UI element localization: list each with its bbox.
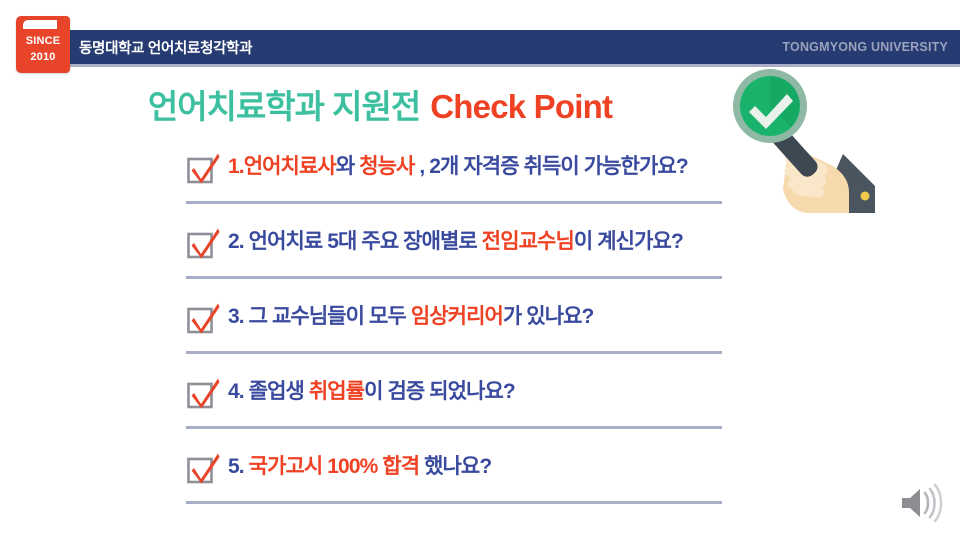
checklist-item-segment: 언어치료사 xyxy=(244,155,336,178)
checklist-item-segment: 취업률 xyxy=(309,380,364,403)
checklist-item-segment: 임상커리어 xyxy=(411,305,503,328)
checkbox-checked-icon[interactable] xyxy=(186,302,220,336)
checklist-item-segment: 졸업생 xyxy=(244,380,309,403)
checkbox-checked-icon[interactable] xyxy=(186,227,220,261)
checklist-item-segment: 전임교수님 xyxy=(482,230,574,253)
checklist-item-number: 1. xyxy=(228,155,244,178)
checkbox-checked-icon[interactable] xyxy=(186,152,220,186)
book-logo-label: SINCE 2010 xyxy=(16,33,70,65)
checklist-item-text: 1.언어치료사와 청능사 , 2개 자격증 취득이 가능한가요? xyxy=(228,150,688,184)
checklist-item: 4. 졸업생 취업률이 검증 되었나요? xyxy=(186,371,722,446)
checklist-item-segment: 와 xyxy=(336,155,359,178)
checklist-item-number: 4. xyxy=(228,380,244,403)
checklist: 1.언어치료사와 청능사 , 2개 자격증 취득이 가능한가요?2. 언어치료 … xyxy=(186,146,722,521)
checklist-item-segment: 했나요? xyxy=(419,455,491,478)
logo-since-line: SINCE xyxy=(16,33,70,49)
checklist-item-divider xyxy=(186,351,722,354)
page-title: 언어치료학과 지원전Check Point xyxy=(0,80,760,128)
checklist-item-divider xyxy=(186,501,722,504)
checklist-item-divider xyxy=(186,276,722,279)
checkbox-checked-icon[interactable] xyxy=(186,377,220,411)
checklist-item-segment: 이 계신가요? xyxy=(574,230,683,253)
checklist-item-segment: 청능사 xyxy=(359,155,414,178)
checklist-item: 1.언어치료사와 청능사 , 2개 자격증 취득이 가능한가요? xyxy=(186,146,722,221)
checklist-item-divider xyxy=(186,201,722,204)
checklist-item-text: 5. 국가고시 100% 합격 했나요? xyxy=(228,450,491,484)
page-title-accent: Check Point xyxy=(430,88,612,125)
checklist-item: 5. 국가고시 100% 합격 했나요? xyxy=(186,446,722,521)
checklist-item-text: 2. 언어치료 5대 주요 장애별로 전임교수님이 계신가요? xyxy=(228,225,683,259)
checklist-item-number: 3. xyxy=(228,305,244,328)
checklist-item: 2. 언어치료 5대 주요 장애별로 전임교수님이 계신가요? xyxy=(186,221,722,296)
checklist-item-text: 3. 그 교수님들이 모두 임상커리어가 있나요? xyxy=(228,300,593,334)
checklist-item-number: 2. xyxy=(228,230,244,253)
checklist-item-divider xyxy=(186,426,722,429)
header-department-title: 동명대학교 언어치료청각학과 xyxy=(79,37,252,58)
checklist-item-segment: 이 검증 되었나요? xyxy=(364,380,515,403)
checklist-item: 3. 그 교수님들이 모두 임상커리어가 있나요? xyxy=(186,296,722,371)
checklist-item-segment: , 2개 자격증 취득이 가능한가요? xyxy=(414,155,687,178)
checklist-item-text: 4. 졸업생 취업률이 검증 되었나요? xyxy=(228,375,515,409)
logo-year-line: 2010 xyxy=(16,49,70,65)
book-icon: SINCE 2010 xyxy=(16,16,70,73)
checklist-item-segment: 언어치료 5대 주요 장애별로 xyxy=(244,230,482,253)
checklist-item-number: 5. xyxy=(228,455,244,478)
magnifier-check-hand-icon xyxy=(725,68,875,213)
checklist-item-segment: 가 있나요? xyxy=(503,305,594,328)
checklist-item-segment: 국가고시 100% 합격 xyxy=(249,455,420,478)
checkbox-checked-icon[interactable] xyxy=(186,452,220,486)
speaker-volume-icon[interactable] xyxy=(898,483,944,523)
checklist-item-segment: 그 교수님들이 모두 xyxy=(244,305,411,328)
header-bar: 동명대학교 언어치료청각학과 TONGMYONG UNIVERSITY xyxy=(62,30,960,64)
header-university-name: TONGMYONG UNIVERSITY xyxy=(782,40,948,54)
book-page-shape xyxy=(23,20,63,29)
page-title-main: 언어치료학과 지원전 xyxy=(148,88,420,125)
